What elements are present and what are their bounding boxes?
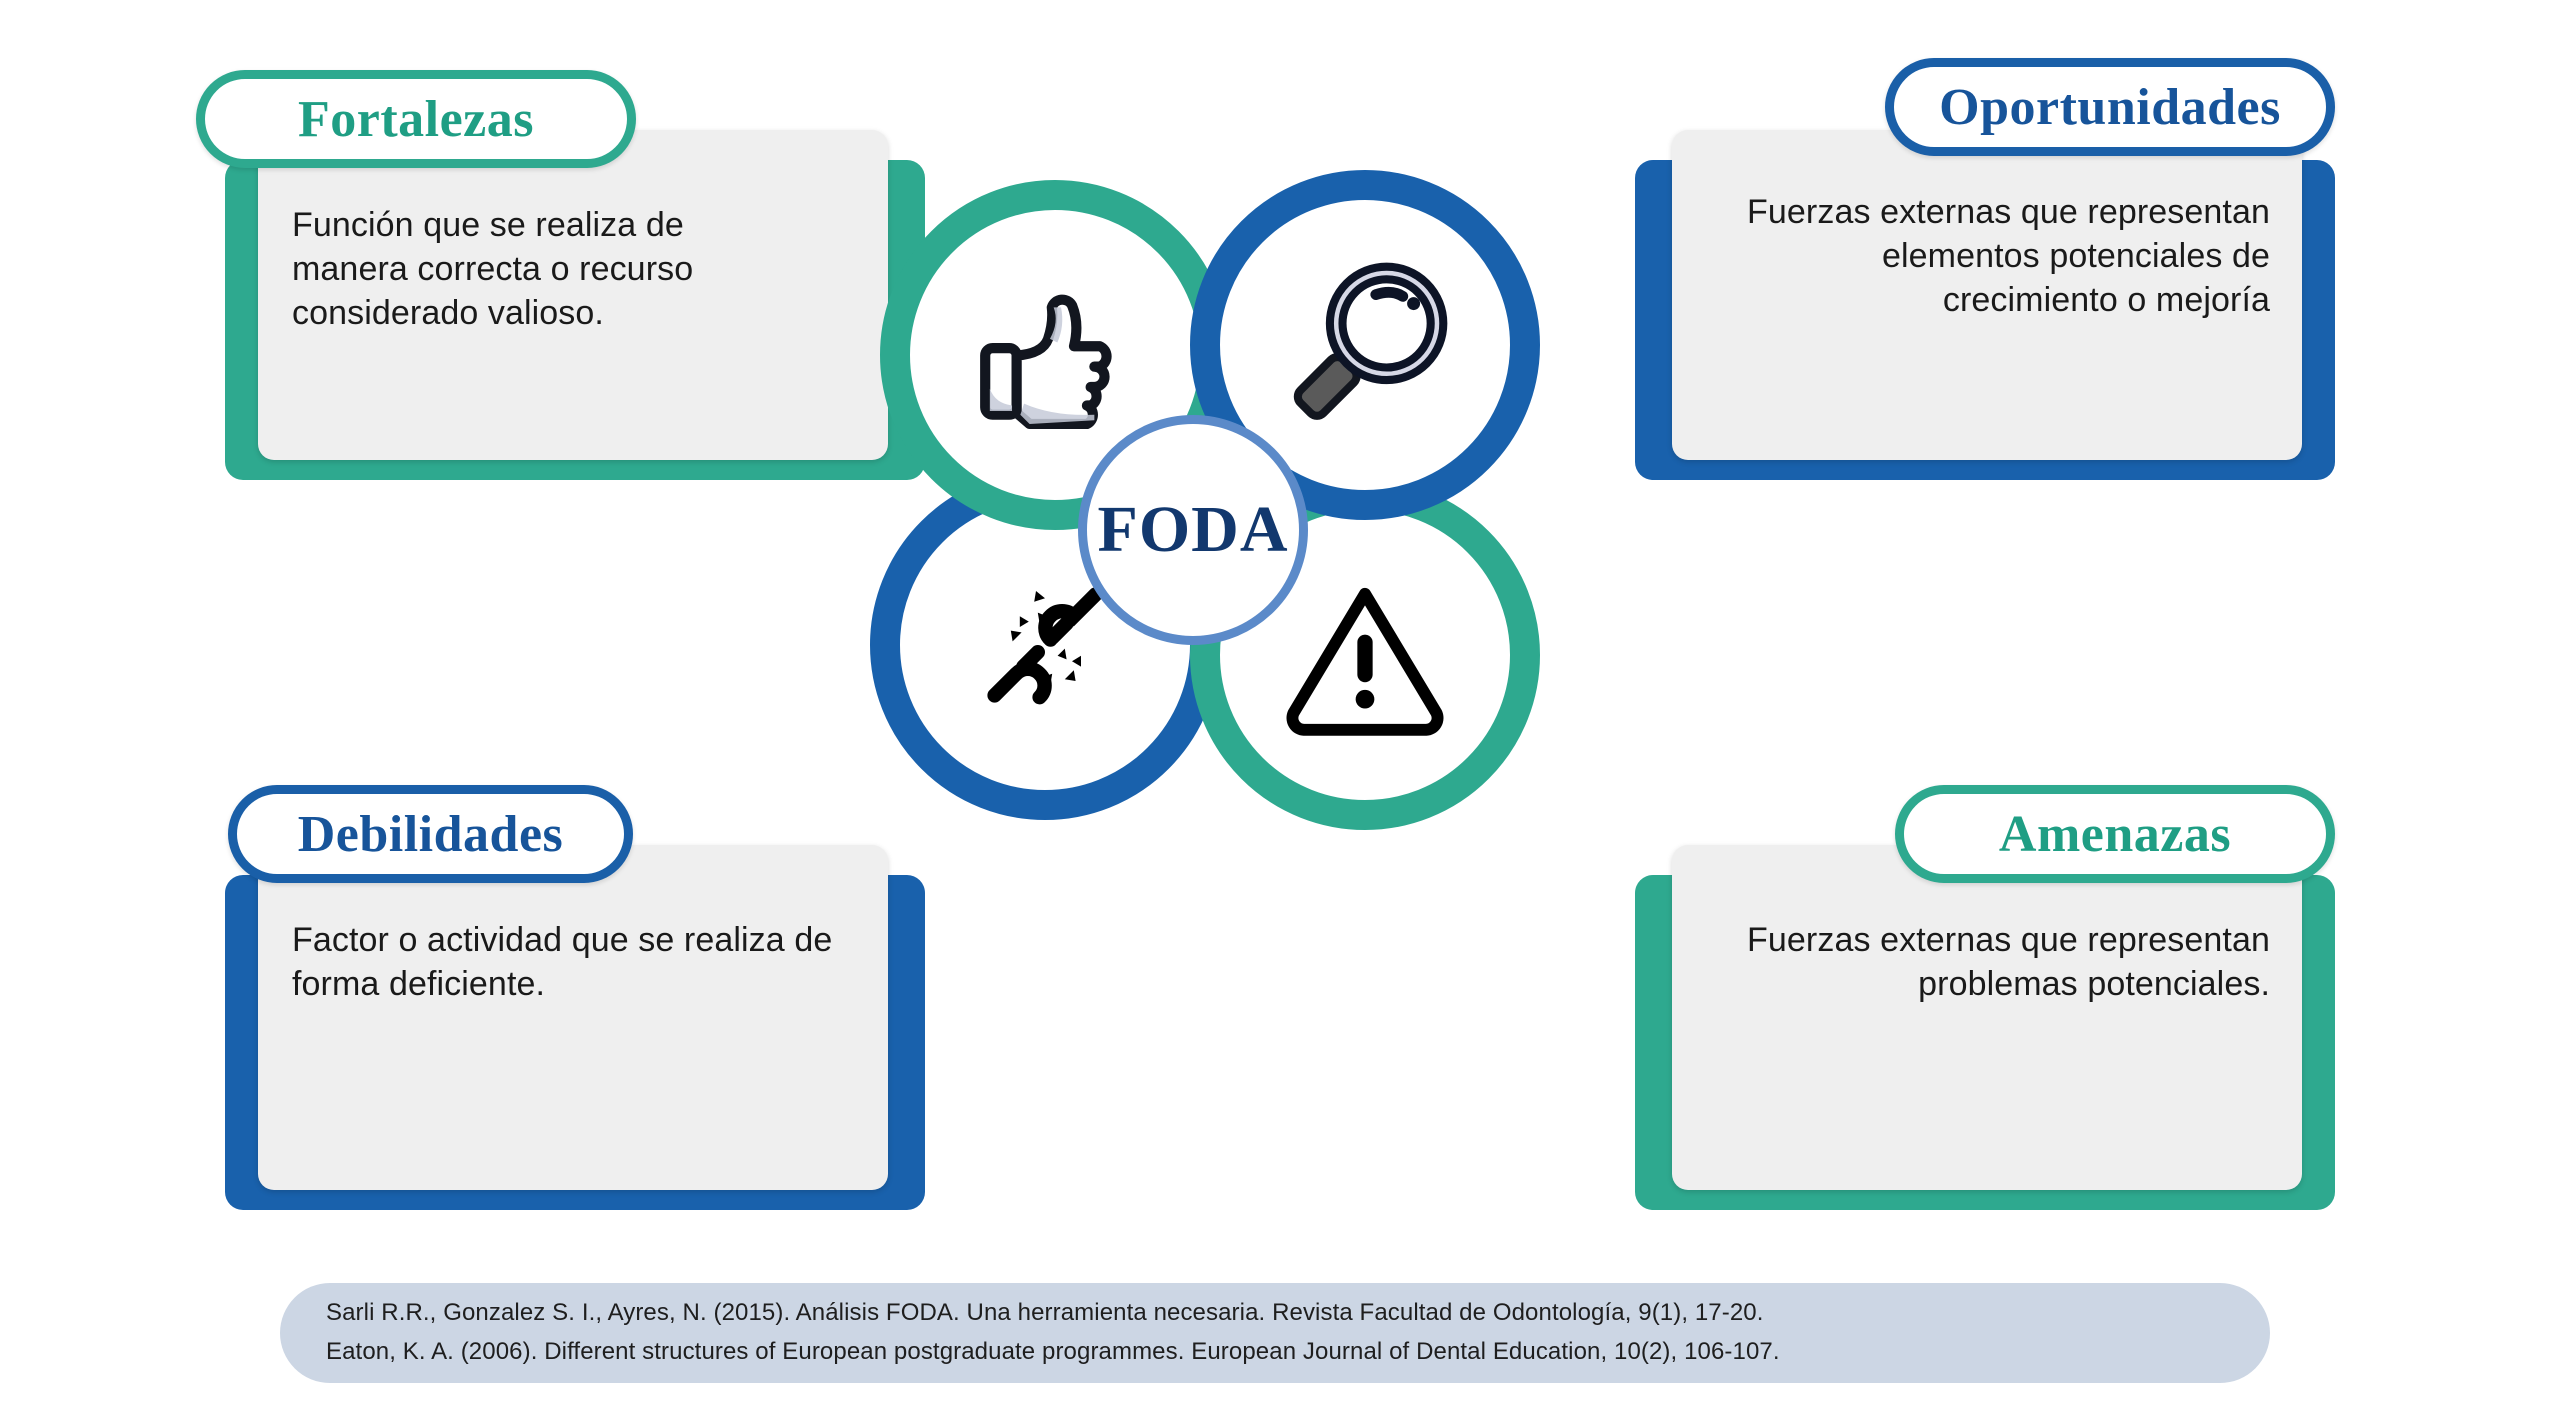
quadrant-label-oportunidades[interactable]: Oportunidades xyxy=(1885,58,2335,156)
quadrant-label-debilidades[interactable]: Debilidades xyxy=(228,785,633,883)
quadrant-label-amenazas[interactable]: Amenazas xyxy=(1895,785,2335,883)
card-panel-debilidades xyxy=(258,845,888,1190)
card-body-oportunidades: Fuerzas externas que representan element… xyxy=(1700,190,2270,323)
card-body-debilidades: Factor o actividad que se realiza de for… xyxy=(292,918,852,1006)
citation-reference-1: Sarli R.R., Gonzalez S. I., Ayres, N. (2… xyxy=(326,1294,2224,1333)
thumbs-up-icon xyxy=(963,263,1148,448)
card-panel-amenazas xyxy=(1672,845,2302,1190)
citation-reference-2: Eaton, K. A. (2006). Different structure… xyxy=(326,1333,2224,1372)
citation-footer: Sarli R.R., Gonzalez S. I., Ayres, N. (2… xyxy=(280,1283,2270,1383)
card-body-fortalezas: Función que se realiza de manera correct… xyxy=(292,203,762,336)
card-body-amenazas: Fuerzas externas que representan problem… xyxy=(1700,918,2270,1006)
magnifying-glass-icon xyxy=(1275,255,1455,435)
center-label-foda: FODA xyxy=(1078,415,1308,645)
center-circle-cluster: FODA xyxy=(860,170,1700,1000)
quadrant-label-fortalezas[interactable]: Fortalezas xyxy=(196,70,636,168)
warning-triangle-icon xyxy=(1280,570,1450,740)
foda-diagram: Función que se realiza de manera correct… xyxy=(0,0,2560,1413)
